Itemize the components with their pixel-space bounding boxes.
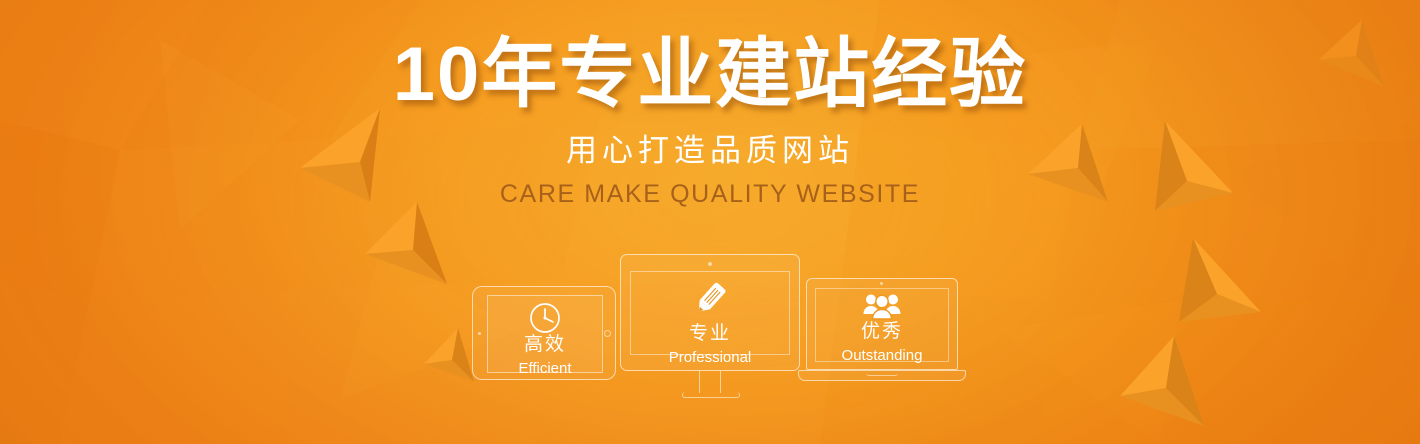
subtitle-english: CARE MAKE QUALITY WEBSITE (500, 182, 920, 207)
promo-banner: 10年专业建站经验 用心打造品质网站 CARE MAKE QUALITY WEB… (0, 0, 1420, 444)
banner-text-block: 10年专业建站经验 用心打造品质网站 CARE MAKE QUALITY WEB… (0, 0, 1420, 444)
subtitle-chinese: 用心打造品质网站 (566, 135, 854, 166)
page-title: 10年专业建站经验 (393, 37, 1028, 113)
